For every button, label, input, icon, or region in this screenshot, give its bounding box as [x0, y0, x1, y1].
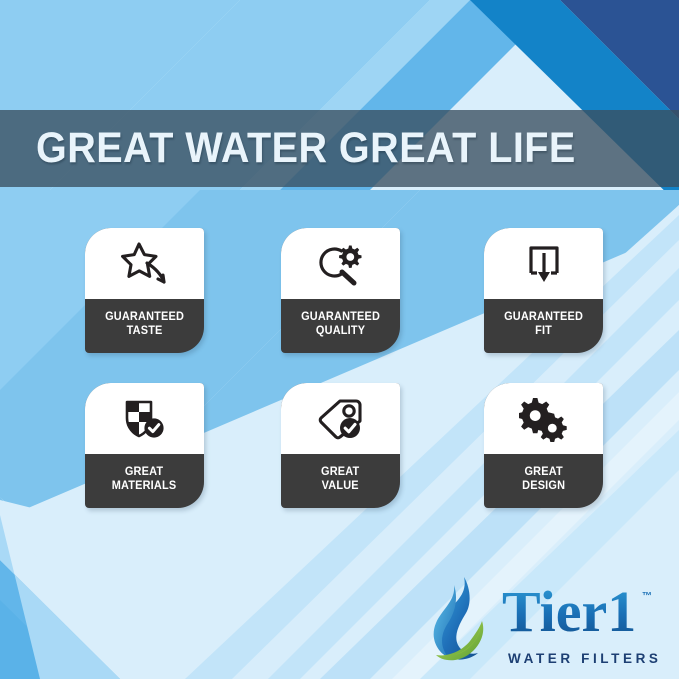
badge-great-design[interactable]: GREAT DESIGN	[484, 383, 603, 508]
brand-logo: Tier1 ™ WATER FILTERS	[424, 573, 664, 673]
badge-icon-panel	[85, 228, 204, 299]
magnifier-gear-icon	[316, 241, 366, 287]
trademark-symbol: ™	[642, 591, 652, 602]
svg-text:Tier1: Tier1	[502, 581, 636, 644]
badge-icon-panel	[484, 228, 603, 299]
badge-guaranteed-fit[interactable]: GUARANTEED FIT	[484, 228, 603, 353]
two-gears-icon	[519, 396, 569, 442]
badge-guaranteed-quality[interactable]: GUARANTEED QUALITY	[281, 228, 400, 353]
badge-label-panel: GREAT VALUE	[281, 454, 400, 508]
promo-graphic: GREAT WATER GREAT LIFE GUARANTEE	[0, 0, 679, 679]
badge-icon-panel	[281, 383, 400, 454]
badge-icon-panel	[85, 383, 204, 454]
badge-label: GUARANTEED TASTE	[105, 310, 184, 338]
checkered-shield-check-icon	[121, 396, 169, 442]
badge-icon-panel	[281, 228, 400, 299]
badge-label: GUARANTEED FIT	[504, 310, 583, 338]
badge-label-panel: GUARANTEED FIT	[484, 299, 603, 353]
badge-label-panel: GREAT MATERIALS	[85, 454, 204, 508]
badge-label-panel: GUARANTEED QUALITY	[281, 299, 400, 353]
badge-label: GUARANTEED QUALITY	[301, 310, 380, 338]
badge-label: GREAT VALUE	[321, 465, 359, 493]
badge-great-value[interactable]: GREAT VALUE	[281, 383, 400, 508]
price-tag-check-icon	[316, 396, 366, 442]
insert-arrow-box-icon	[521, 241, 567, 287]
shooting-star-icon	[119, 241, 171, 287]
badge-label-panel: GUARANTEED TASTE	[85, 299, 204, 353]
water-droplet-leaf-icon	[424, 575, 500, 672]
badge-great-materials[interactable]: GREAT MATERIALS	[85, 383, 204, 508]
badge-label: GREAT DESIGN	[522, 465, 565, 493]
badge-icon-panel	[484, 383, 603, 454]
logo-tagline: WATER FILTERS	[508, 651, 662, 666]
brand-wordmark: Tier1	[502, 581, 652, 654]
badge-label-panel: GREAT DESIGN	[484, 454, 603, 508]
badge-guaranteed-taste[interactable]: GUARANTEED TASTE	[85, 228, 204, 353]
badge-label: GREAT MATERIALS	[112, 465, 177, 493]
